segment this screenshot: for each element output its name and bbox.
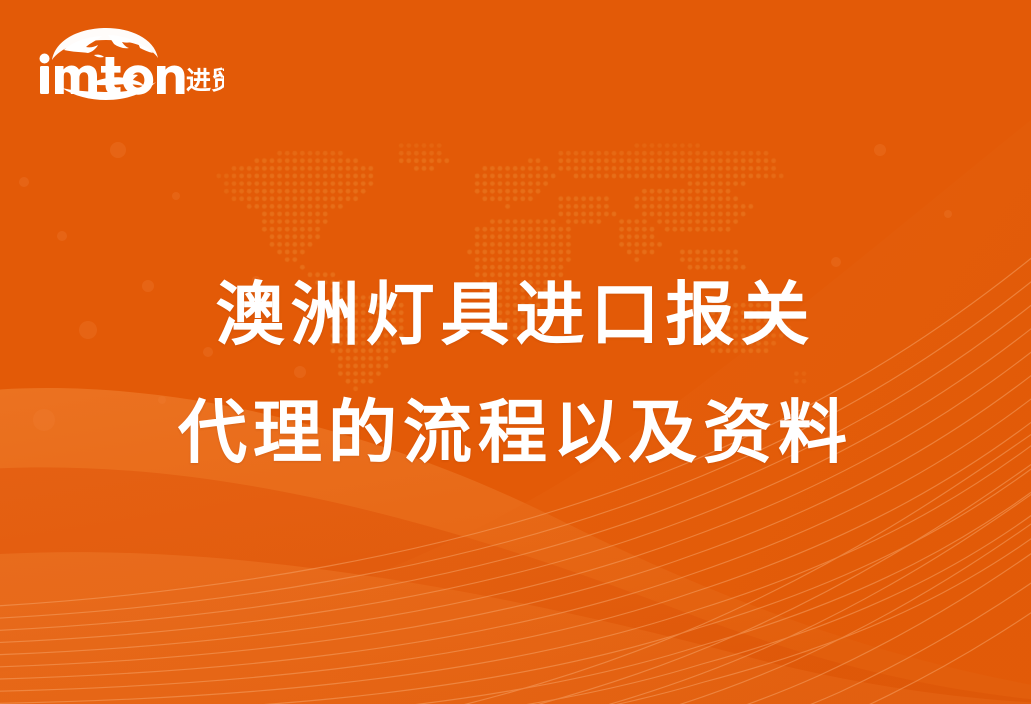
poster-canvas: 进贸通 ® 澳洲灯具进口报关 代理的流程以及资料	[0, 0, 1031, 704]
headline-line-1: 澳洲灯具进口报关	[0, 256, 1031, 374]
logo-wordmark	[40, 54, 185, 95]
imton-logo[interactable]: 进贸通 ®	[34, 26, 224, 104]
poster-headline: 澳洲灯具进口报关 代理的流程以及资料	[0, 256, 1031, 492]
swoosh-icon	[52, 70, 158, 100]
globe-arc-icon	[52, 28, 158, 60]
headline-line-2: 代理的流程以及资料	[0, 374, 1031, 492]
logo-chinese-name: 进贸通	[186, 67, 224, 95]
